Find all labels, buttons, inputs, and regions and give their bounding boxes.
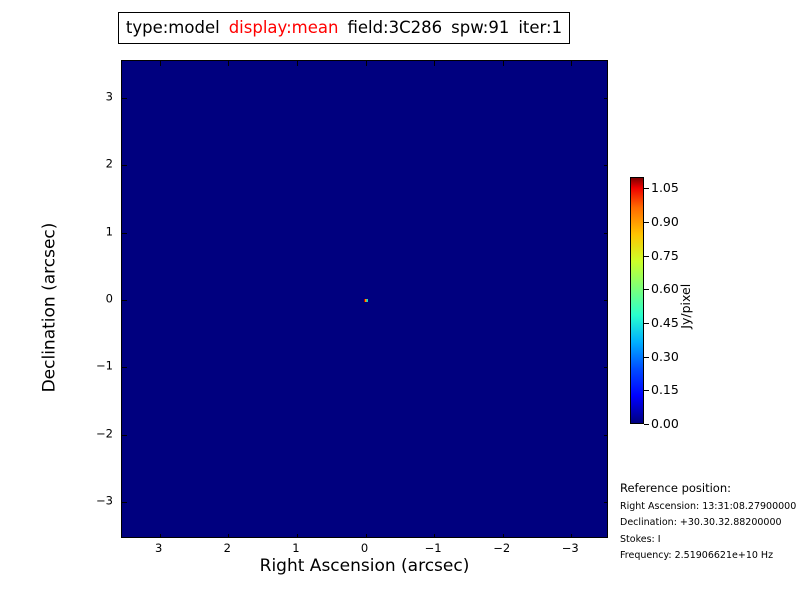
x-tick-label: −2 (493, 543, 510, 555)
colorbar-tick-label: 1.05 (651, 182, 679, 195)
y-tick-label: −2 (73, 428, 113, 440)
colorbar-tick (644, 188, 649, 189)
y-tick (604, 367, 608, 368)
reference-position-line: Frequency: 2.51906621e+10 Hz (620, 551, 800, 561)
colorbar-tick-label: 0.30 (651, 350, 679, 363)
y-tick (604, 502, 608, 503)
title-key-type: type:model (126, 20, 220, 37)
colorbar-tick (644, 222, 649, 223)
colorbar-tick (644, 424, 649, 425)
point-source-marker (364, 299, 368, 302)
x-tick-label: 1 (292, 543, 299, 555)
x-tick-label: 2 (224, 543, 231, 555)
colorbar-unit-label: Jy/pixel (680, 236, 693, 376)
reference-position-heading: Reference position: (620, 483, 800, 495)
reference-position-lines: Right Ascension: 13:31:08.27900000Declin… (620, 502, 800, 561)
x-tick (503, 534, 504, 538)
reference-position-panel: Reference position: Right Ascension: 13:… (620, 483, 800, 568)
y-tick-label: −1 (73, 361, 113, 373)
title-key-iter: iter:1 (518, 20, 562, 37)
x-tick (297, 534, 298, 538)
x-tick (366, 534, 367, 538)
colorbar-tick-label: 0.45 (651, 317, 679, 330)
sky-image-plot[interactable] (121, 60, 608, 538)
y-tick (122, 367, 127, 368)
x-tick (434, 61, 435, 66)
y-tick-label: 0 (73, 293, 113, 305)
y-tick (604, 98, 608, 99)
colorbar-tick-label: 0.75 (651, 249, 679, 262)
x-tick (571, 534, 572, 538)
reference-position-line: Declination: +30.30.32.88200000 (620, 518, 800, 528)
title-key-display: display:mean (229, 20, 339, 37)
y-tick (122, 233, 127, 234)
colorbar-tick-label: 0.90 (651, 216, 679, 229)
x-tick-label: −1 (425, 543, 442, 555)
x-tick (228, 534, 229, 538)
x-axis-label: Right Ascension (arcsec) (121, 558, 608, 575)
x-tick (503, 61, 504, 66)
colorbar-tick (644, 323, 649, 324)
y-tick (122, 435, 127, 436)
colorbar-tick-label: 0.00 (651, 418, 679, 431)
x-tick (366, 61, 367, 66)
x-tick (434, 534, 435, 538)
reference-position-line: Stokes: I (620, 535, 800, 545)
colorbar[interactable] (630, 177, 644, 424)
y-tick-label: 1 (73, 226, 113, 238)
y-tick (122, 502, 127, 503)
x-tick-label: 0 (361, 543, 368, 555)
y-tick (122, 300, 127, 301)
x-tick (160, 534, 161, 538)
x-tick-label: 3 (155, 543, 162, 555)
colorbar-tick-label: 0.15 (651, 384, 679, 397)
reference-position-line: Right Ascension: 13:31:08.27900000 (620, 502, 800, 512)
colorbar-tick (644, 256, 649, 257)
y-tick-label: −3 (73, 495, 113, 507)
x-tick-label: −3 (562, 543, 579, 555)
colorbar-tick (644, 357, 649, 358)
colorbar-tick (644, 390, 649, 391)
y-axis-label: Declination (arcsec) (42, 108, 59, 508)
x-tick (297, 61, 298, 66)
x-tick (228, 61, 229, 66)
plot-title-box: type:model display:mean field:3C286 spw:… (118, 12, 570, 44)
y-tick-label: 2 (73, 159, 113, 171)
y-tick (604, 435, 608, 436)
title-key-field: field:3C286 (347, 20, 442, 37)
y-tick (122, 165, 127, 166)
x-tick (160, 61, 161, 66)
colorbar-gradient (631, 178, 643, 423)
colorbar-tick (644, 289, 649, 290)
title-key-spw: spw:91 (451, 20, 509, 37)
y-tick (604, 233, 608, 234)
y-tick (122, 98, 127, 99)
y-tick (604, 300, 608, 301)
colorbar-tick-label: 0.60 (651, 283, 679, 296)
y-tick (604, 165, 608, 166)
x-tick (571, 61, 572, 66)
y-tick-label: 3 (73, 91, 113, 103)
